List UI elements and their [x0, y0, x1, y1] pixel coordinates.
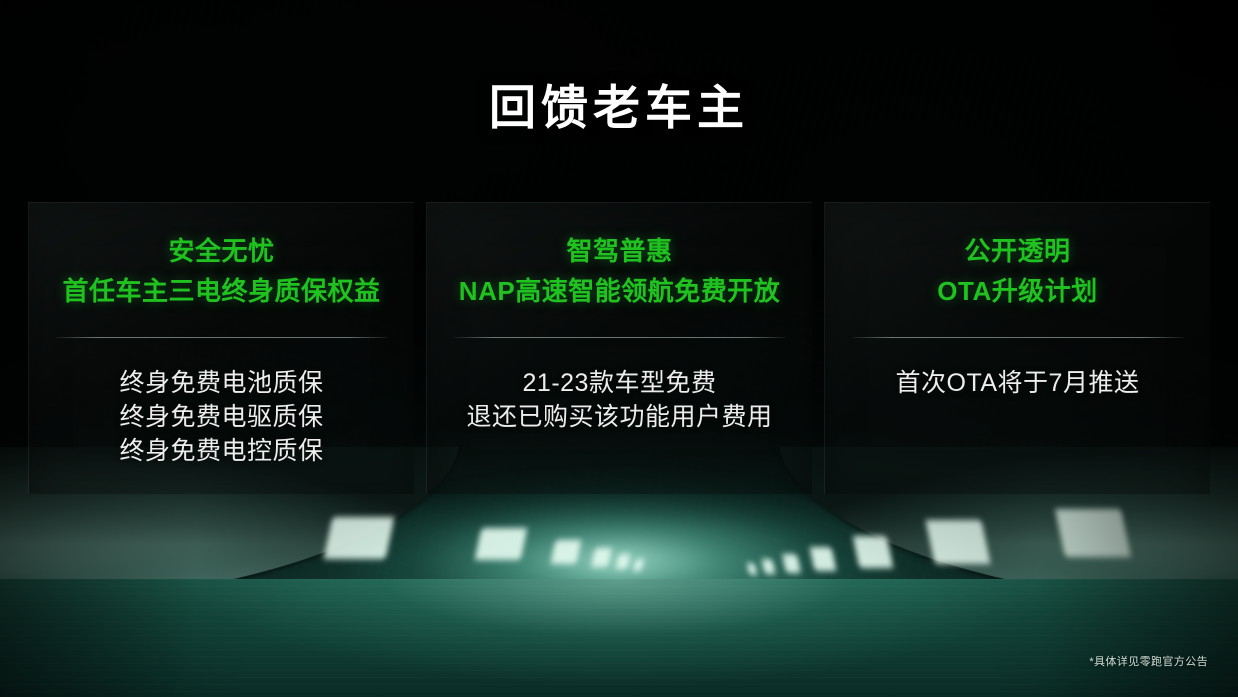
- card-body: 终身免费电池质保 终身免费电驱质保 终身免费电控质保: [45, 366, 398, 468]
- card-heading: 智驾普惠 NAP高速智能领航免费开放: [443, 231, 796, 311]
- card-heading-line-1: 公开透明: [841, 231, 1194, 271]
- card-heading-line-2: NAP高速智能领航免费开放: [443, 271, 796, 311]
- benefit-card-safety[interactable]: 安全无忧 首任车主三电终身质保权益 终身免费电池质保 终身免费电驱质保 终身免费…: [28, 202, 414, 494]
- card-divider: [454, 337, 786, 338]
- benefit-card-list: 安全无忧 首任车主三电终身质保权益 终身免费电池质保 终身免费电驱质保 终身免费…: [28, 202, 1210, 494]
- card-body-line: 终身免费电驱质保: [45, 400, 398, 434]
- card-heading-line-2: 首任车主三电终身质保权益: [45, 271, 398, 311]
- card-body-line: 终身免费电池质保: [45, 366, 398, 400]
- card-body-line: 21-23款车型免费: [443, 366, 796, 400]
- card-heading-line-2: OTA升级计划: [841, 271, 1194, 311]
- card-body: 21-23款车型免费 退还已购买该功能用户费用: [443, 366, 796, 434]
- card-divider: [852, 337, 1184, 338]
- card-body: 首次OTA将于7月推送: [841, 366, 1194, 400]
- card-body-line: 首次OTA将于7月推送: [841, 366, 1194, 400]
- card-heading: 公开透明 OTA升级计划: [841, 231, 1194, 311]
- slide-content: 回馈老车主 安全无忧 首任车主三电终身质保权益 终身免费电池质保 终身免费电驱质…: [0, 0, 1238, 697]
- footnote-disclaimer: *具体详见零跑官方公告: [1089, 653, 1208, 669]
- benefit-card-nap[interactable]: 智驾普惠 NAP高速智能领航免费开放 21-23款车型免费 退还已购买该功能用户…: [426, 202, 812, 494]
- card-heading-line-1: 智驾普惠: [443, 231, 796, 271]
- card-heading: 安全无忧 首任车主三电终身质保权益: [45, 231, 398, 311]
- card-body-line: 退还已购买该功能用户费用: [443, 400, 796, 434]
- card-body-line: 终身免费电控质保: [45, 434, 398, 468]
- card-divider: [56, 337, 388, 338]
- presentation-slide: 回馈老车主 安全无忧 首任车主三电终身质保权益 终身免费电池质保 终身免费电驱质…: [0, 0, 1238, 697]
- page-title: 回馈老车主: [0, 82, 1238, 134]
- benefit-card-ota[interactable]: 公开透明 OTA升级计划 首次OTA将于7月推送: [824, 202, 1210, 494]
- card-heading-line-1: 安全无忧: [45, 231, 398, 271]
